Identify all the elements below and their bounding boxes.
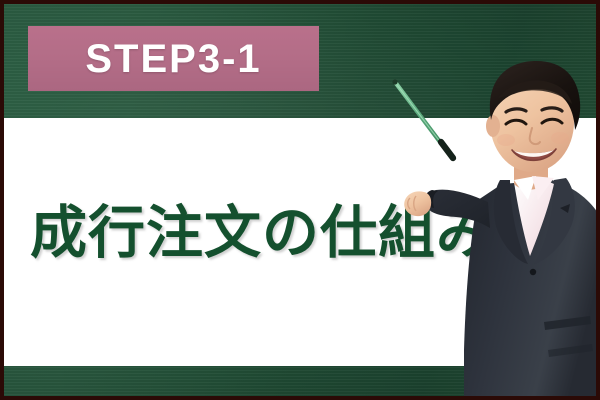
- step-badge-label: STEP3-1: [85, 39, 261, 79]
- step-badge: STEP3-1: [28, 26, 319, 91]
- presentation-slide: STEP3-1 成行注文の仕組み: [0, 0, 600, 400]
- presenter-photo: [402, 50, 600, 398]
